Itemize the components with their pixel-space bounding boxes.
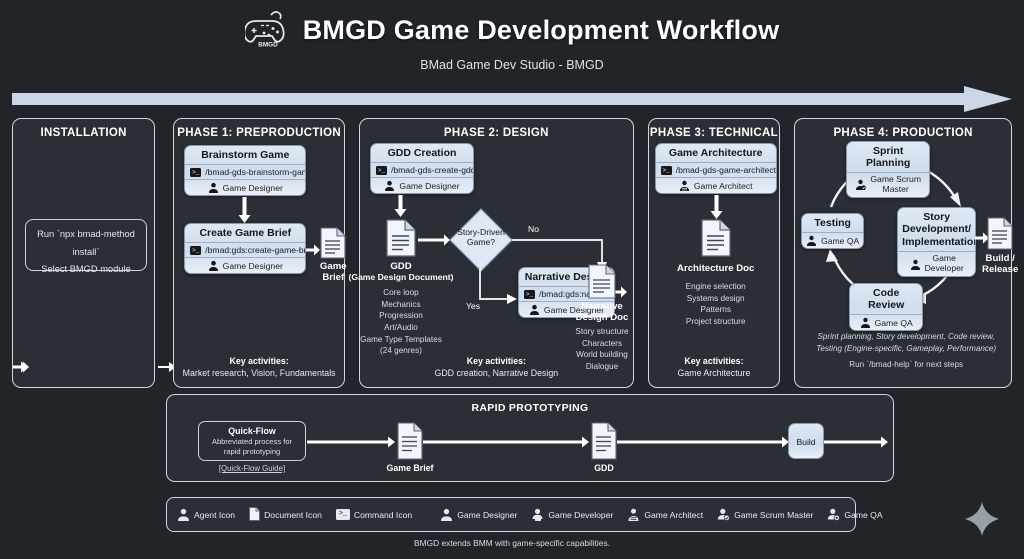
card-agent: Game Designer: [223, 261, 283, 271]
card-agent: Game QA: [821, 236, 859, 246]
arrow-gamebrief-to-gdd-icon: [423, 435, 589, 453]
key-activities-title: Key activities:: [467, 356, 526, 366]
agent-icon: [177, 508, 190, 521]
document-gdd-sublabel: (Game Design Document): [336, 271, 466, 283]
legend-label: Document Icon: [264, 510, 322, 520]
doc-label-line1: Build /: [955, 253, 1024, 264]
card-agent-row: Game Designer: [185, 179, 305, 195]
game-scrum-master-icon: [717, 508, 730, 521]
command-icon: >_: [661, 166, 672, 175]
document-architecture-label: Architecture Doc: [671, 263, 761, 274]
key-activities-title: Key activities:: [684, 356, 743, 366]
column-installation: INSTALLATION Run `npx bmad-method instal…: [12, 118, 155, 388]
card-title: Story Development/ Implementation: [898, 208, 975, 251]
arrow-build-to-end-icon: [824, 435, 888, 453]
installation-instructions-box: Run `npx bmad-method install` Select BMG…: [25, 219, 147, 271]
key-activities-text: GDD creation, Narrative Design: [434, 368, 558, 378]
card-code-review[interactable]: Code Review Game QA: [849, 283, 923, 331]
card-title: Game Architecture: [656, 144, 776, 162]
key-activities-title: Key activities:: [230, 356, 289, 366]
game-scrum-master-icon: [855, 179, 866, 190]
page-subtitle: BMad Game Dev Studio - BMGD: [0, 58, 1024, 72]
key-activities-phase2: Key activities: GDD creation, Narrative …: [360, 355, 633, 379]
agent-line1: Game Scrum: [870, 174, 921, 184]
bmgd-gamepad-logo-icon: BMGD: [245, 9, 291, 51]
game-qa-icon: [827, 508, 840, 521]
title-row: BMGD BMGD Game Development Workflow: [0, 9, 1024, 51]
game-designer-icon: [384, 180, 395, 191]
game-designer-icon: [208, 182, 219, 193]
document-build-release-label: Build / Release: [955, 253, 1024, 276]
card-title: Sprint Planning: [847, 142, 929, 172]
key-activities-phase1: Key activities: Market research, Vision,…: [174, 355, 344, 379]
card-title: Testing: [802, 214, 863, 232]
phase-columns: INSTALLATION Run `npx bmad-method instal…: [12, 118, 1012, 388]
key-activities-text: Game Architecture: [678, 368, 751, 378]
agent-line2: Master: [883, 184, 909, 194]
legend-item-document-icon: Document Icon: [249, 507, 322, 523]
quick-flow-title: Quick-Flow: [199, 426, 305, 436]
card-command-row[interactable]: >_ /bmad:gds:create-game-brief: [185, 242, 305, 257]
footer-note: BMGD extends BMM with game-specific capa…: [0, 538, 1024, 548]
legend-item-game-developer: Game Developer: [531, 508, 613, 521]
arrow-quickflow-to-gamebrief-icon: [307, 435, 395, 453]
document-architecture-icon: [701, 219, 731, 262]
document-build-release-icon: [987, 217, 1013, 255]
legend-item-agent-icon: Agent Icon: [177, 508, 235, 521]
key-activities-phase3: Key activities: Game Architecture: [649, 355, 779, 379]
arrow-gdd-to-build-icon: [617, 435, 789, 453]
legend-label: Game Architect: [644, 510, 703, 520]
column-phase1: PHASE 1: PREPRODUCTION Brainstorm Game >…: [173, 118, 345, 388]
decision-label: Story-Driven Game?: [448, 227, 514, 248]
doc-label-line2: Release: [955, 264, 1024, 275]
card-agent-row: Game QA: [802, 232, 863, 248]
card-brainstorm-game[interactable]: Brainstorm Game >_ /bmad-gds-brainstorm-…: [184, 145, 306, 196]
card-command: /bmad:gds:create-game-brief: [205, 245, 306, 255]
legend-item-game-scrum-master: Game Scrum Master: [717, 508, 813, 521]
game-developer-icon: [910, 259, 921, 270]
card-agent: Game Architect: [694, 181, 753, 191]
card-title: GDD Creation: [371, 144, 473, 162]
card-title-line2: Development/: [902, 223, 971, 235]
card-command: /bmad-gds-game-architecture: [676, 165, 777, 175]
column-title-phase4: PHASE 4: PRODUCTION: [795, 119, 1011, 139]
game-architect-icon: [679, 180, 690, 191]
command-icon: >_: [376, 166, 387, 175]
game-designer-icon: [208, 260, 219, 271]
card-agent-row: Game QA: [850, 314, 922, 330]
document-narrative-design-label: Narrative Design Doc: [557, 301, 647, 324]
card-testing[interactable]: Testing Game QA: [801, 213, 864, 249]
installation-line-2: Select BMGD module: [30, 261, 142, 279]
quick-flow-desc-line1: Abbreviated process for: [199, 437, 305, 447]
game-architect-icon: [627, 508, 640, 521]
card-agent-row: Game Designer: [371, 177, 473, 193]
phase4-help-note: Run `/bmad-help` for next steps: [799, 359, 1013, 371]
decision-label-line2: Game?: [448, 237, 514, 247]
command-icon: >_: [524, 290, 535, 299]
document-game-brief-icon: [320, 227, 346, 264]
command-icon: >_: [190, 246, 201, 255]
agent-line1: Game: [932, 253, 955, 263]
rapid-document-gdd-icon: [591, 422, 617, 465]
card-command-row[interactable]: >_ /bmad-gds-game-architecture: [656, 162, 776, 177]
installation-line-1: Run `npx bmad-method install`: [30, 226, 142, 261]
card-command: /bmad-gds-brainstorm-game: [205, 167, 306, 177]
doc-label-line1: Narrative: [557, 301, 647, 312]
key-activities-text: Market research, Vision, Fundamentals: [183, 368, 336, 378]
legend-item-game-architect: Game Architect: [627, 508, 703, 521]
page-title: BMGD Game Development Workflow: [303, 15, 780, 46]
legend-label: Agent Icon: [194, 510, 235, 520]
column-phase4: PHASE 4: PRODUCTION Sprint Planning: [794, 118, 1012, 388]
card-agent: Game Designer: [223, 183, 283, 193]
card-agent: Game Designer: [399, 181, 459, 191]
game-designer-icon: [529, 304, 540, 315]
branch-label-no: No: [528, 224, 539, 234]
header: BMGD BMGD Game Development Workflow BMad…: [0, 0, 1024, 72]
column-title-phase2: PHASE 2: DESIGN: [360, 119, 633, 139]
workflow-progress-arrow-icon: [12, 86, 1012, 112]
legend-item-game-qa: Game QA: [827, 508, 882, 521]
legend-item-game-designer: Game Designer: [440, 508, 517, 521]
game-qa-icon: [860, 317, 871, 328]
quick-flow-guide-link[interactable]: [Quick-Flow Guide]: [198, 464, 306, 473]
card-title: Brainstorm Game: [185, 146, 305, 164]
quick-flow-guide-link-text: [Quick-Flow Guide]: [219, 464, 285, 473]
column-title-phase3: PHASE 3: TECHNICAL: [649, 119, 779, 139]
doc-label-line2: Design Doc: [557, 312, 647, 323]
column-phase2: PHASE 2: DESIGN GDD Creation >_ /bmad-gd…: [359, 118, 634, 388]
card-game-architecture[interactable]: Game Architecture >_ /bmad-gds-game-arch…: [655, 143, 777, 194]
card-command-row[interactable]: >_ /bmad-gds-create-gdd: [371, 162, 473, 177]
command-icon: >_: [336, 509, 350, 520]
card-title-line3: Implementation: [902, 236, 971, 248]
arrow-gddcreation-to-gdddoc-icon: [394, 195, 407, 222]
document-gdd-icon: [386, 219, 416, 262]
column-title-installation: INSTALLATION: [13, 119, 154, 139]
game-qa-icon: [806, 235, 817, 246]
gdd-feature-list: Core loop Mechanics Progression Art/Audi…: [336, 287, 466, 357]
rapid-prototyping-title: RAPID PROTOTYPING: [167, 395, 893, 414]
branch-label-yes: Yes: [466, 301, 480, 311]
card-command: /bmad-gds-create-gdd: [391, 165, 474, 175]
arrow-brief-to-doc-icon: [306, 243, 320, 261]
rapid-prototyping-panel: RAPID PROTOTYPING Quick-Flow Abbreviated…: [166, 394, 894, 482]
legend: Agent Icon Document Icon >_ Command Icon…: [166, 497, 856, 532]
sparkle-icon: [963, 500, 1001, 538]
legend-label: Command Icon: [354, 510, 412, 520]
phase4-note-line1: Sprint planning, Story development, Code…: [799, 331, 1013, 343]
game-developer-icon: [531, 508, 544, 521]
quick-flow-box[interactable]: Quick-Flow Abbreviated process for rapid…: [198, 421, 306, 461]
card-title-line1: Story: [902, 211, 971, 223]
branch-yes-path-icon: [474, 269, 518, 314]
legend-label: Game QA: [844, 510, 882, 520]
card-agent-row: Game Architect: [656, 177, 776, 193]
game-designer-icon: [440, 508, 453, 521]
card-sprint-planning[interactable]: Sprint Planning Game Scrum Master: [846, 141, 930, 198]
arrow-gdd-to-decision-icon: [418, 233, 450, 251]
card-agent: Game QA: [875, 318, 913, 328]
architecture-feature-list: Engine selection Systems design Patterns…: [651, 281, 781, 328]
card-agent: Game Scrum Master: [870, 175, 921, 195]
phase4-notes: Sprint planning, Story development, Code…: [799, 331, 1013, 355]
card-agent-row: Game Designer: [185, 257, 305, 273]
document-narrative-design-icon: [588, 264, 616, 304]
card-title: Create Game Brief: [185, 224, 305, 242]
legend-label: Game Scrum Master: [734, 510, 813, 520]
card-title: Code Review: [850, 284, 922, 314]
legend-label: Game Designer: [457, 510, 517, 520]
phase4-note-line2: Testing (Engine-specific, Gameplay, Perf…: [799, 343, 1013, 355]
quick-flow-desc-line2: rapid prototyping: [199, 447, 305, 457]
card-command-row[interactable]: >_ /bmad-gds-brainstorm-game: [185, 164, 305, 179]
rapid-document-game-brief-icon: [397, 422, 423, 465]
card-gdd-creation[interactable]: GDD Creation >_ /bmad-gds-create-gdd Gam…: [370, 143, 474, 194]
legend-item-command-icon: >_ Command Icon: [336, 509, 412, 520]
rapid-document-gdd-label: GDD: [564, 463, 644, 473]
legend-label: Game Developer: [548, 510, 613, 520]
logo-text: BMGD: [258, 42, 278, 49]
card-agent-row: Game Scrum Master: [847, 172, 929, 197]
rapid-build-box[interactable]: Build: [788, 423, 824, 459]
decision-label-line1: Story-Driven: [448, 227, 514, 237]
command-icon: >_: [190, 168, 201, 177]
rapid-document-game-brief-label: Game Brief: [370, 463, 450, 473]
document-icon: [249, 507, 260, 523]
column-title-phase1: PHASE 1: PREPRODUCTION: [174, 119, 344, 139]
column-phase3: PHASE 3: TECHNICAL Game Architecture >_ …: [648, 118, 780, 388]
arrow-phase3-to-phase4-icon: [13, 360, 27, 378]
quick-flow-desc: Abbreviated process for rapid prototypin…: [199, 437, 305, 457]
workflow-diagram: BMGD BMGD Game Development Workflow BMad…: [0, 0, 1024, 559]
